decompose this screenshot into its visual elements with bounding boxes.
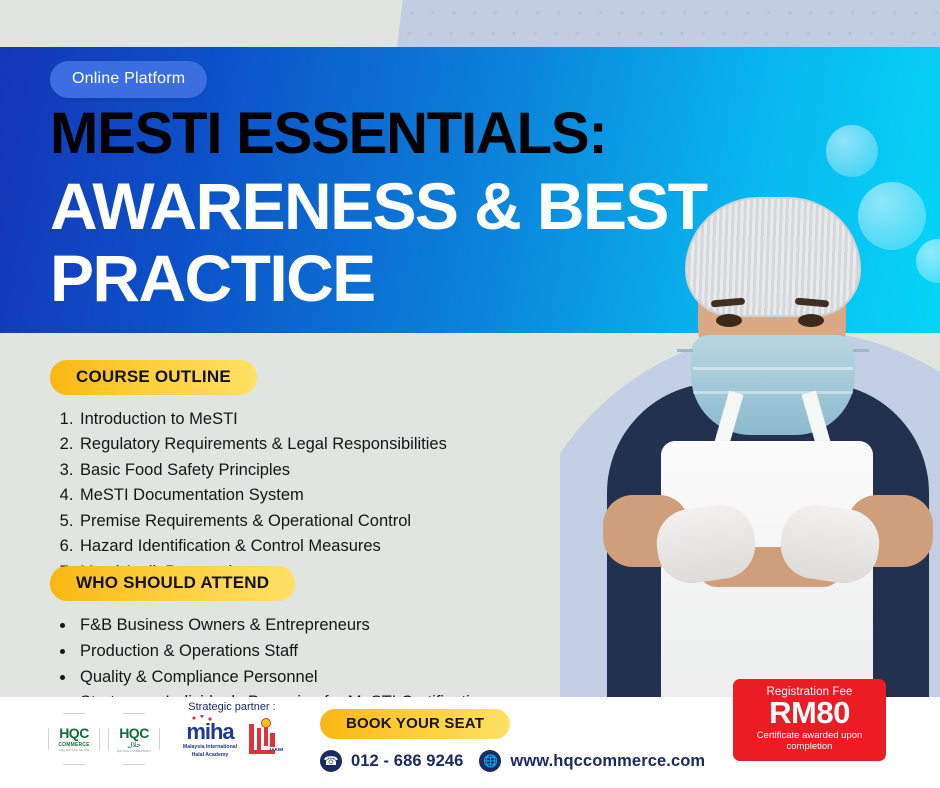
course-outline-section: COURSE OUTLINE Introduction to MeSTI Reg… xyxy=(50,360,447,587)
list-item: MeSTI Documentation System xyxy=(78,485,447,507)
hqc-commerce-logo: HQC COMMERCE HQC Commerce Sdn Bhd xyxy=(48,713,100,765)
online-platform-badge: Online Platform xyxy=(50,61,207,98)
registration-fee-badge: Registration Fee RM80 Certificate awarde… xyxy=(733,679,886,761)
miha-subtitle-1: Malaysia International xyxy=(183,744,237,751)
face-mask-icon xyxy=(691,335,855,435)
hqc-logo-fineprint: HQC HALAL CONSULTANCY xyxy=(117,750,152,753)
hairnet-icon xyxy=(685,197,861,317)
jakim-halal-logo: JAKIM xyxy=(247,718,281,758)
phone-icon: ☎ xyxy=(320,750,342,772)
fee-amount: RM80 xyxy=(733,697,886,729)
poster-root: Online Platform MESTI ESSENTIALS: AWAREN… xyxy=(0,0,940,788)
list-item: Production & Operations Staff xyxy=(76,641,488,663)
brand-logos: HQC COMMERCE HQC Commerce Sdn Bhd HQC حل… xyxy=(48,713,160,765)
contact-row: ☎ 012 - 686 9246 🌐 www.hqccommerce.com xyxy=(320,750,705,772)
hqc-halal-logo: HQC حلال HQC HALAL CONSULTANCY xyxy=(108,713,160,765)
miha-dots-icon xyxy=(191,715,217,722)
course-outline-list: Introduction to MeSTI Regulatory Require… xyxy=(78,409,447,584)
who-should-attend-heading: WHO SHOULD ATTEND xyxy=(50,566,295,601)
miha-logo: miha Malaysia International Halal Academ… xyxy=(183,721,237,758)
hqc-logo-subtext: COMMERCE xyxy=(58,742,89,748)
hqc-logo-text: HQC xyxy=(119,726,149,740)
course-outline-heading: COURSE OUTLINE xyxy=(50,360,257,395)
list-item: Premise Requirements & Operational Contr… xyxy=(78,511,447,533)
list-item: Regulatory Requirements & Legal Responsi… xyxy=(78,434,447,456)
list-item: Quality & Compliance Personnel xyxy=(76,667,488,689)
list-item: Basic Food Safety Principles xyxy=(78,460,447,482)
bubble-icon xyxy=(826,125,878,177)
list-item: Introduction to MeSTI xyxy=(78,409,447,431)
food-handler-photo xyxy=(585,195,940,697)
who-should-attend-section: WHO SHOULD ATTEND F&B Business Owners & … xyxy=(50,566,488,718)
phone-contact[interactable]: ☎ 012 - 686 9246 xyxy=(320,750,463,772)
hqc-logo-arabic: حلال xyxy=(127,741,141,749)
book-your-seat-button[interactable]: BOOK YOUR SEAT xyxy=(320,709,510,739)
strategic-partner-block: Strategic partner : miha Malaysia Intern… xyxy=(168,701,296,758)
hqc-logo-text: HQC xyxy=(59,726,89,740)
phone-number: 012 - 686 9246 xyxy=(351,752,463,771)
globe-icon: 🌐 xyxy=(479,750,501,772)
fee-note: Certificate awarded upon completion xyxy=(733,730,886,753)
jakim-label: JAKIM xyxy=(269,747,283,752)
miha-subtitle-2: Halal Academy xyxy=(183,752,237,759)
cta-block: BOOK YOUR SEAT ☎ 012 - 686 9246 🌐 www.hq… xyxy=(320,709,705,772)
website-url: www.hqccommerce.com xyxy=(510,752,705,771)
strategic-partner-label: Strategic partner : xyxy=(168,701,296,713)
list-item: F&B Business Owners & Entrepreneurs xyxy=(76,615,488,637)
miha-logo-text: miha xyxy=(186,719,233,744)
hqc-logo-fineprint: HQC Commerce Sdn Bhd xyxy=(59,749,89,752)
list-item: Hazard Identification & Control Measures xyxy=(78,536,447,558)
title-line-1: MESTI ESSENTIALS: xyxy=(50,104,750,165)
website-contact[interactable]: 🌐 www.hqccommerce.com xyxy=(479,750,705,772)
